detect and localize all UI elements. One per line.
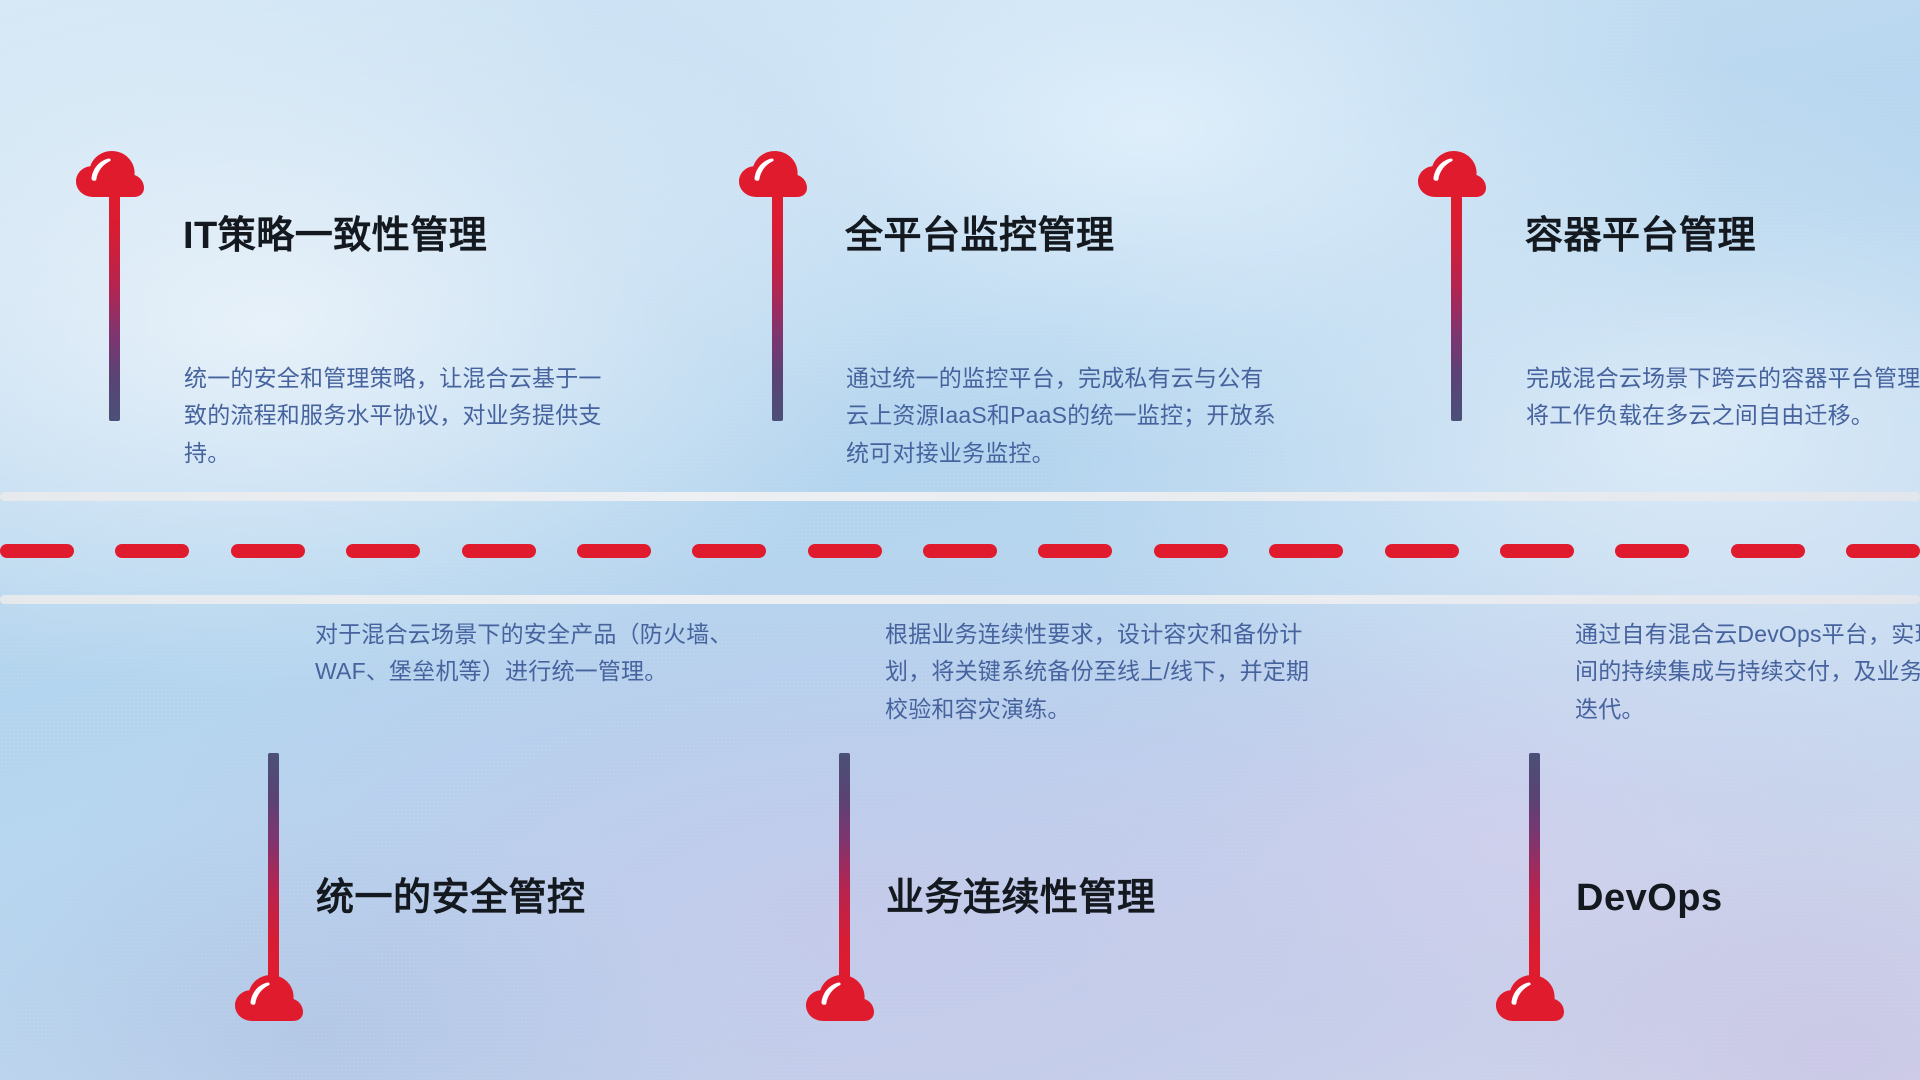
card-title: IT策略一致性管理 [183,216,487,258]
marker-stem [1451,196,1462,421]
divider-dash [808,544,882,558]
card-title: 统一的安全管控 [316,878,586,920]
card-unified-security: 对于混合云场景下的安全产品（防火墙、WAF、堡垒机等）进行统一管理。 统一的安全… [0,604,700,1080]
divider-dash [577,544,651,558]
card-description: 通过统一的监控平台，完成私有云与公有云上资源IaaS和PaaS的统一监控；开放系… [846,360,1276,472]
cloud-icon [1495,974,1565,1024]
card-title: 全平台监控管理 [845,216,1115,258]
marker-stem [109,196,120,421]
bottom-row: 对于混合云场景下的安全产品（防火墙、WAF、堡垒机等）进行统一管理。 统一的安全… [0,604,1920,1080]
cloud-icon [234,974,304,1024]
divider-dash [346,544,420,558]
cloud-icon [75,150,145,200]
divider-dashed-line [0,544,1920,558]
card-description: 通过自有混合云DevOps平台，实现多云间的持续集成与持续交付，及业务的快速迭代… [1575,616,1920,728]
card-description: 统一的安全和管理策略，让混合云基于一致的流程和服务水平协议，对业务提供支持。 [184,360,614,472]
divider-rule-bottom [0,595,1920,604]
cloud-icon [805,974,875,1024]
marker-stem [1529,753,1540,978]
infographic-canvas: IT策略一致性管理 统一的安全和管理策略，让混合云基于一致的流程和服务水平协议，… [0,0,1920,1080]
card-title: DevOps [1576,878,1723,920]
divider-dash [1615,544,1689,558]
divider-dash [115,544,189,558]
card-title: 业务连续性管理 [886,878,1156,920]
marker-stem [268,753,279,978]
divider-dash [0,544,74,558]
divider-dash [231,544,305,558]
card-description: 根据业务连续性要求，设计容灾和备份计划，将关键系统备份至线上/线下，并定期校验和… [885,616,1315,728]
card-full-platform-monitoring: 全平台监控管理 通过统一的监控平台，完成私有云与公有云上资源IaaS和PaaS的… [700,0,1400,492]
divider-band [0,492,1920,604]
divider-dash [1038,544,1112,558]
marker-stem [772,196,783,421]
divider-dash [1269,544,1343,558]
divider-dash [1731,544,1805,558]
card-description: 完成混合云场景下跨云的容器平台管理，将工作负载在多云之间自由迁移。 [1526,360,1920,435]
marker-it-policy-consistency [105,150,185,421]
card-description: 对于混合云场景下的安全产品（防火墙、WAF、堡垒机等）进行统一管理。 [315,616,745,691]
divider-dash [923,544,997,558]
divider-dash [692,544,766,558]
divider-dash [1385,544,1459,558]
divider-dash [1154,544,1228,558]
divider-rule-top [0,492,1920,501]
card-it-policy-consistency: IT策略一致性管理 统一的安全和管理策略，让混合云基于一致的流程和服务水平协议，… [0,0,700,492]
card-title: 容器平台管理 [1525,216,1756,258]
divider-dash [1846,544,1920,558]
card-devops: 通过自有混合云DevOps平台，实现多云间的持续集成与持续交付，及业务的快速迭代… [1400,604,1920,1080]
cloud-icon [738,150,808,200]
card-container-platform: 容器平台管理 完成混合云场景下跨云的容器平台管理，将工作负载在多云之间自由迁移。 [1400,0,1920,492]
divider-dash [1500,544,1574,558]
card-business-continuity: 根据业务连续性要求，设计容灾和备份计划，将关键系统备份至线上/线下，并定期校验和… [700,604,1400,1080]
marker-stem [839,753,850,978]
cloud-icon [1417,150,1487,200]
divider-dash [462,544,536,558]
marker-full-platform-monitoring [768,150,848,421]
top-row: IT策略一致性管理 统一的安全和管理策略，让混合云基于一致的流程和服务水平协议，… [0,0,1920,492]
marker-container-platform [1447,150,1527,421]
